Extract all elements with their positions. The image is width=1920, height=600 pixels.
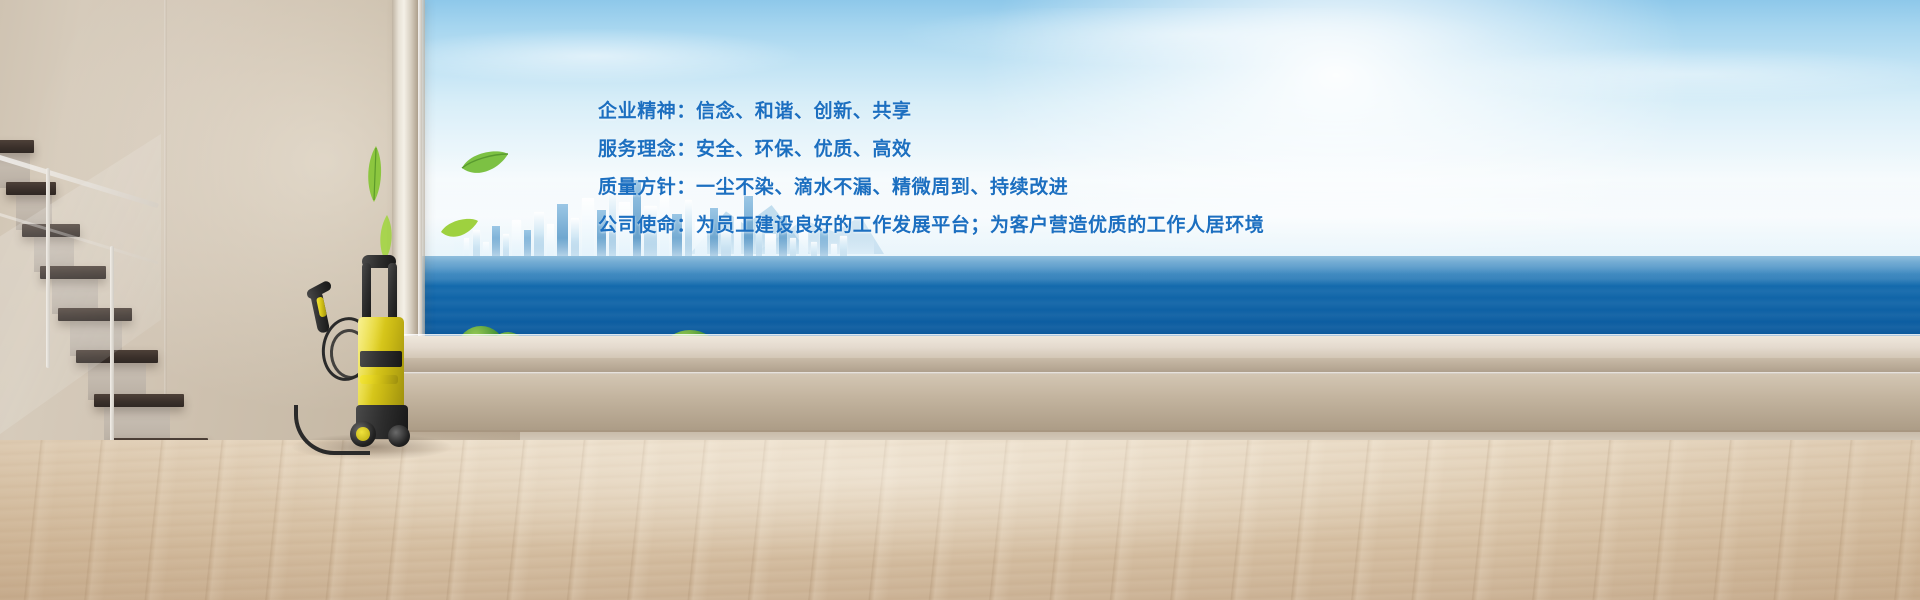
slogan-text-block: 企业精神：信念、和谐、创新、共享 服务理念：安全、环保、优质、高效 质量方针：一… [598, 92, 1358, 244]
slogan-line-3: 质量方针：一尘不染、滴水不漏、精微周到、持续改进 [598, 168, 1358, 206]
leaf-icon [438, 216, 480, 246]
pressure-washer [300, 255, 430, 460]
slogan-line-1: 企业精神：信念、和谐、创新、共享 [598, 92, 1358, 130]
leaf-icon [362, 144, 388, 206]
slogan-line-2: 服务理念：安全、环保、优质、高效 [598, 130, 1358, 168]
wood-floor [0, 440, 1920, 600]
promo-banner: 企业精神：信念、和谐、创新、共享 服务理念：安全、环保、优质、高效 质量方针：一… [0, 0, 1920, 600]
slogan-line-4: 公司使命：为员工建设良好的工作发展平台；为客户营造优质的工作人居环境 [598, 206, 1358, 244]
staircase [0, 140, 176, 480]
leaf-icon [458, 148, 510, 182]
baseboard [392, 374, 1920, 432]
